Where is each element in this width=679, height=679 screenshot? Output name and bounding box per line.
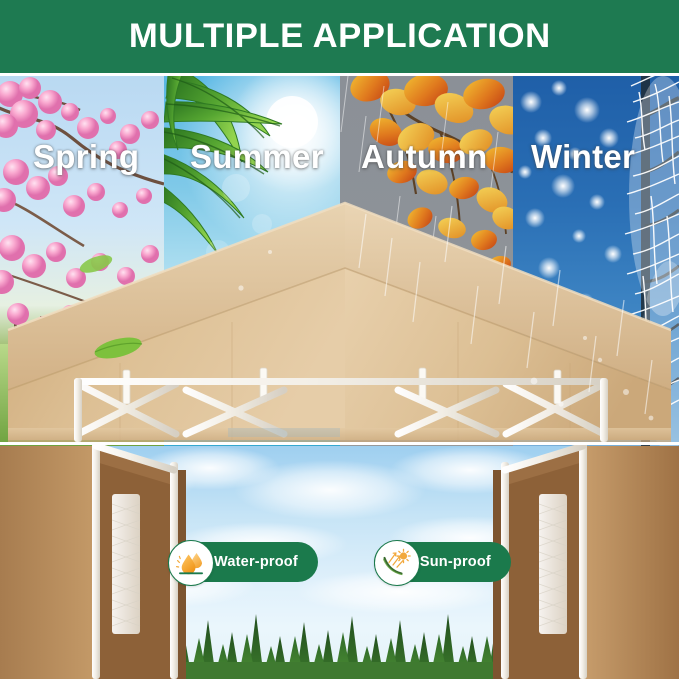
season-label-winter: Winter [531,138,635,176]
water-drop-glyph [176,548,206,578]
sun-ray-shield-glyph [381,548,413,578]
sun-ray-shield-icon [374,540,420,586]
water-drop-icon [168,540,214,586]
season-label-spring: Spring [33,138,139,176]
feature-badge-row: Water-proof [0,533,679,591]
badge-water-proof[interactable]: Water-proof [168,540,318,584]
season-label-autumn: Autumn [361,138,487,176]
badge-label-water-proof: Water-proof [214,554,298,570]
mid-divider [0,442,679,445]
season-label-summer: Summer [190,138,324,176]
badge-label-sun-proof: Sun-proof [420,554,491,570]
product-feature-image: MULTIPLE APPLICATION [0,0,679,679]
badge-sun-proof[interactable]: Sun-proof [374,540,511,584]
